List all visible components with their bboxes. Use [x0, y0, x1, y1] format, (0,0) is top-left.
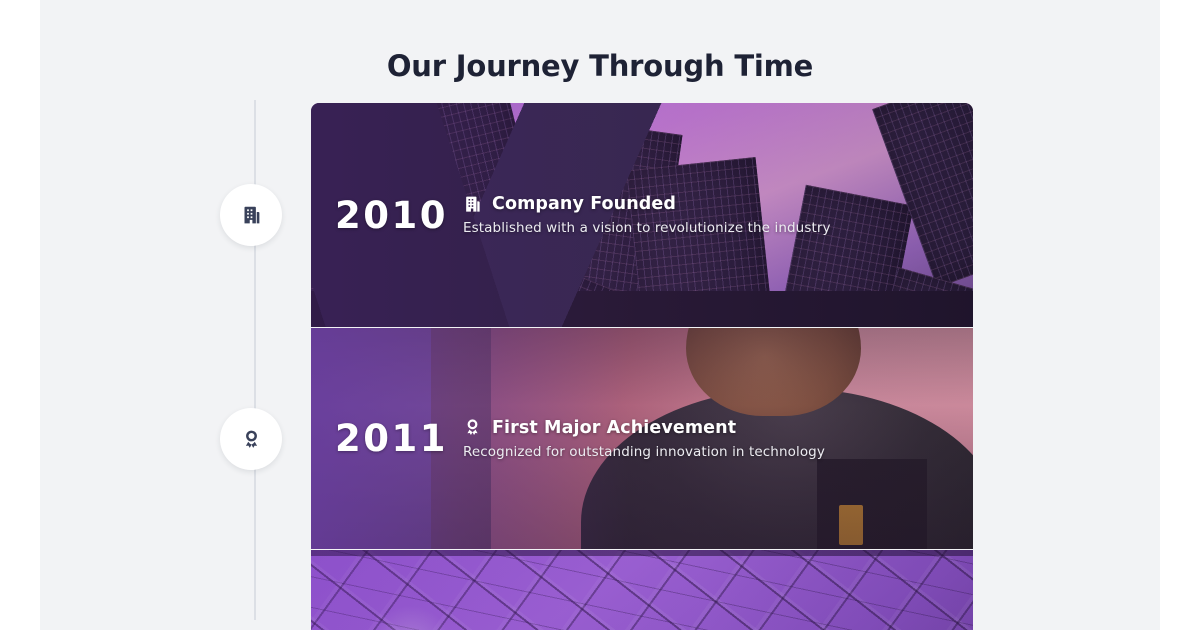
- content-canvas: Our Journey Through Time: [40, 0, 1160, 630]
- entry-title: Company Founded: [492, 194, 676, 214]
- award-icon: [241, 429, 262, 450]
- timeline-marker-2011[interactable]: [220, 408, 282, 470]
- entry-year: 2011: [335, 420, 463, 457]
- card-overlay-tint: [311, 550, 973, 630]
- entry-heading-row: Company Founded: [463, 194, 973, 214]
- timeline-card-2010[interactable]: 2010 Company Founded Established with a …: [311, 103, 973, 327]
- entry-body: First Major Achievement Recognized for o…: [463, 418, 973, 460]
- timeline-card-2011[interactable]: 2011 First Major Achievement Recogn: [311, 328, 973, 549]
- timeline-marker-2010[interactable]: [220, 184, 282, 246]
- timeline-page: Our Journey Through Time: [0, 0, 1200, 630]
- building-icon: [463, 195, 482, 214]
- entry-heading-row: First Major Achievement: [463, 418, 973, 438]
- entry-title: First Major Achievement: [492, 418, 736, 438]
- timeline: 2010 Company Founded Established with a …: [40, 0, 1160, 630]
- card-content: 2011 First Major Achievement Recogn: [311, 328, 973, 549]
- award-icon: [463, 418, 482, 437]
- entry-body: Company Founded Established with a visio…: [463, 194, 973, 236]
- card-content: 2010 Company Founded Established with a …: [311, 103, 973, 327]
- timeline-card-partial[interactable]: [311, 550, 973, 630]
- entry-year: 2010: [335, 197, 463, 234]
- timeline-rail: [254, 100, 256, 620]
- entry-description: Recognized for outstanding innovation in…: [463, 444, 973, 460]
- entry-description: Established with a vision to revolutioni…: [463, 220, 973, 236]
- card-image-dollar-bills: [311, 550, 973, 630]
- building-icon: [241, 205, 262, 226]
